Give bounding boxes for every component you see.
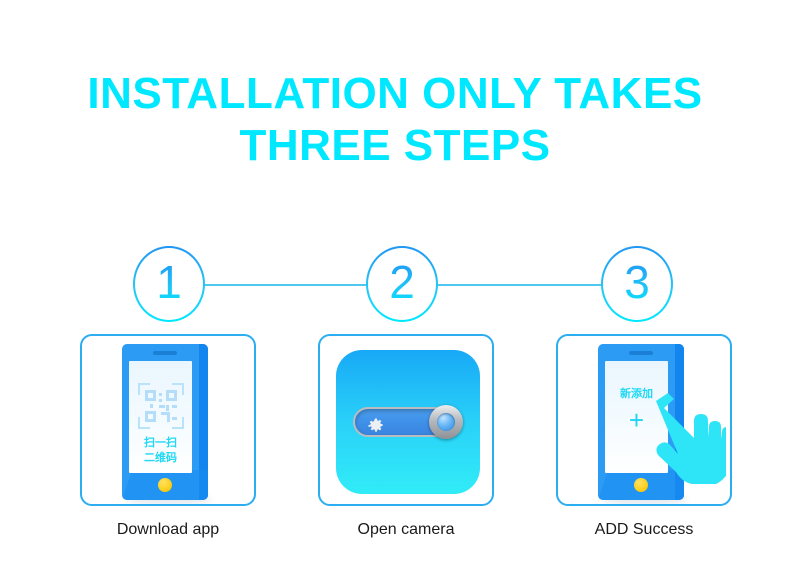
step-circle-3[interactable]: 3 xyxy=(601,246,673,322)
step-circle-1[interactable]: 1 xyxy=(133,246,205,322)
phone-home-button[interactable] xyxy=(634,478,648,492)
stepper: 1 2 3 xyxy=(0,246,790,322)
page-title-line-1: INSTALLATION ONLY TAKES xyxy=(0,72,790,116)
scan-qr-label-line-1: 扫一扫 xyxy=(129,435,192,450)
qr-code-modules xyxy=(145,390,177,422)
qr-code-icon xyxy=(138,383,184,429)
phone-speaker-icon xyxy=(629,351,653,355)
qr-module xyxy=(150,404,153,408)
scan-qr-label-line-2: 二维码 xyxy=(129,450,192,465)
step-card-download-app[interactable]: 扫一扫 二维码 xyxy=(80,334,256,506)
qr-module xyxy=(172,417,177,420)
stepper-connector-1-2 xyxy=(203,284,368,286)
phone-screen-1: 扫一扫 二维码 xyxy=(129,361,192,473)
qr-module xyxy=(159,393,162,396)
card-caption-download-app: Download app xyxy=(80,521,256,539)
step-circle-2[interactable]: 2 xyxy=(366,246,438,322)
toggle-switch[interactable] xyxy=(353,405,463,439)
page-title-line-2: THREE STEPS xyxy=(0,124,790,168)
toggle-knob[interactable] xyxy=(429,405,463,439)
qr-module xyxy=(172,405,177,408)
qr-module xyxy=(167,412,170,422)
stepper-connector-2-3 xyxy=(437,284,605,286)
phone-home-button[interactable] xyxy=(158,478,172,492)
card-caption-add-success: ADD Success xyxy=(556,521,732,539)
gear-icon xyxy=(367,417,385,435)
qr-module xyxy=(166,405,169,411)
step-card-add-success[interactable]: 新添加 + xyxy=(556,334,732,506)
step-number-1: 1 xyxy=(156,259,182,309)
qr-finder-tl xyxy=(145,390,156,401)
phone-illustration-1: 扫一扫 二维码 xyxy=(122,344,208,500)
step-card-open-camera[interactable] xyxy=(318,334,494,506)
step-number-2: 2 xyxy=(389,259,415,309)
qr-module xyxy=(159,399,162,402)
toggle-knob-inner xyxy=(437,413,455,431)
qr-finder-bl xyxy=(145,411,156,422)
step-number-3: 3 xyxy=(624,259,650,309)
page-title: INSTALLATION ONLY TAKES THREE STEPS xyxy=(0,72,790,168)
qr-finder-tr xyxy=(166,390,177,401)
pointing-hand-icon xyxy=(650,391,726,499)
phone-speaker-icon xyxy=(153,351,177,355)
qr-module xyxy=(159,405,165,408)
plus-icon[interactable]: + xyxy=(629,407,644,433)
settings-tile xyxy=(336,350,480,494)
card-caption-open-camera: Open camera xyxy=(318,521,494,539)
scan-qr-label: 扫一扫 二维码 xyxy=(129,435,192,465)
